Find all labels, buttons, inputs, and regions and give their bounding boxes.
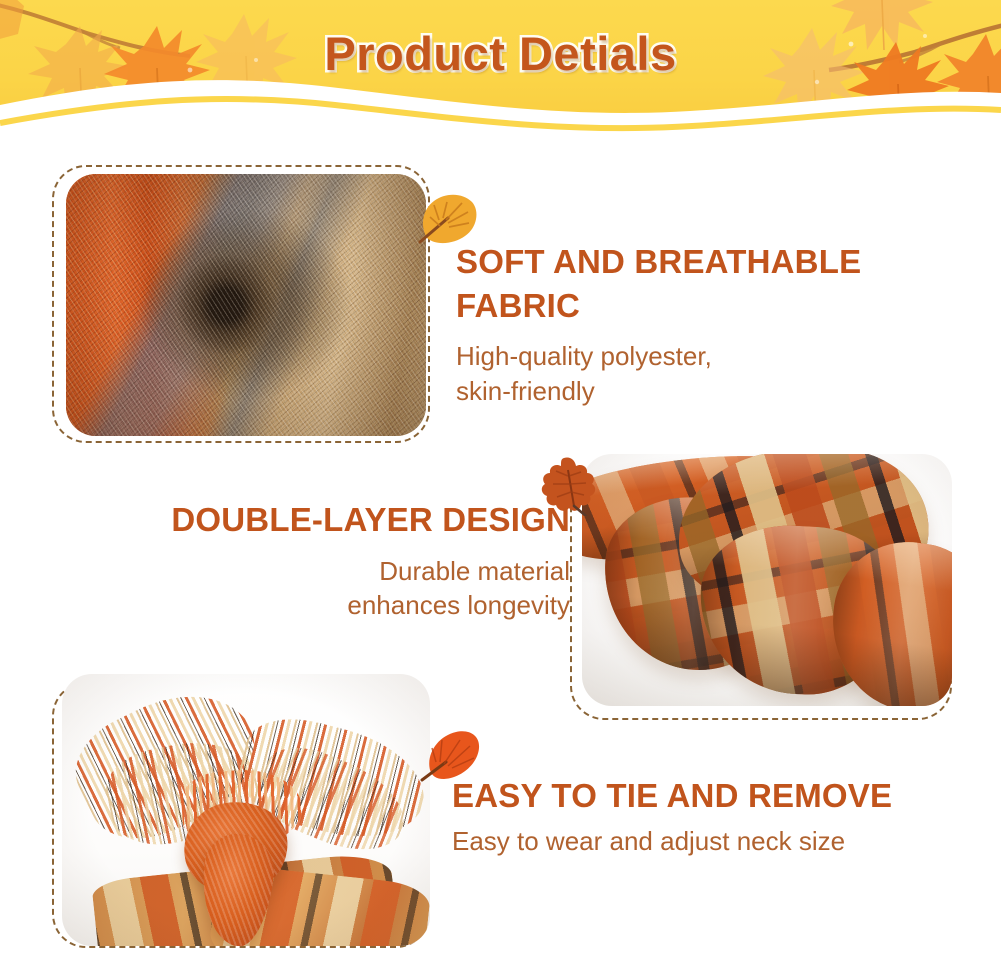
feature-body-line-2-1: Durable material bbox=[60, 554, 570, 589]
page-header: Product Detials bbox=[0, 0, 1001, 132]
header-wave-divider bbox=[0, 71, 1001, 132]
feature-text-1: SOFT AND BREATHABLE FABRIC High-quality … bbox=[456, 240, 976, 409]
product-photo-knotted-scarf bbox=[62, 674, 430, 946]
feature-heading-3: EASY TO TIE AND REMOVE bbox=[452, 774, 997, 818]
feature-block-easy-to-tie-and-remove: EASY TO TIE AND REMOVE Easy to wear and … bbox=[0, 660, 1001, 954]
feature-body-line-1-2: skin-friendly bbox=[456, 374, 976, 409]
aspen-leaf-icon bbox=[418, 190, 480, 246]
feature-heading-2: DOUBLE-LAYER DESIGN bbox=[60, 498, 570, 542]
product-photo-swirled-fabric bbox=[66, 174, 426, 436]
feature-text-3: EASY TO TIE AND REMOVE Easy to wear and … bbox=[452, 774, 997, 858]
feature-heading-1: SOFT AND BREATHABLE FABRIC bbox=[456, 240, 976, 327]
feature-text-2: DOUBLE-LAYER DESIGN Durable material enh… bbox=[60, 498, 570, 623]
feature-body-line-3-1: Easy to wear and adjust neck size bbox=[452, 824, 997, 859]
feature-block-soft-breathable-fabric: SOFT AND BREATHABLE FABRIC High-quality … bbox=[0, 132, 1001, 462]
feature-body-line-1-1: High-quality polyester, bbox=[456, 339, 976, 374]
feature-body-line-2-2: enhances longevity bbox=[60, 588, 570, 623]
